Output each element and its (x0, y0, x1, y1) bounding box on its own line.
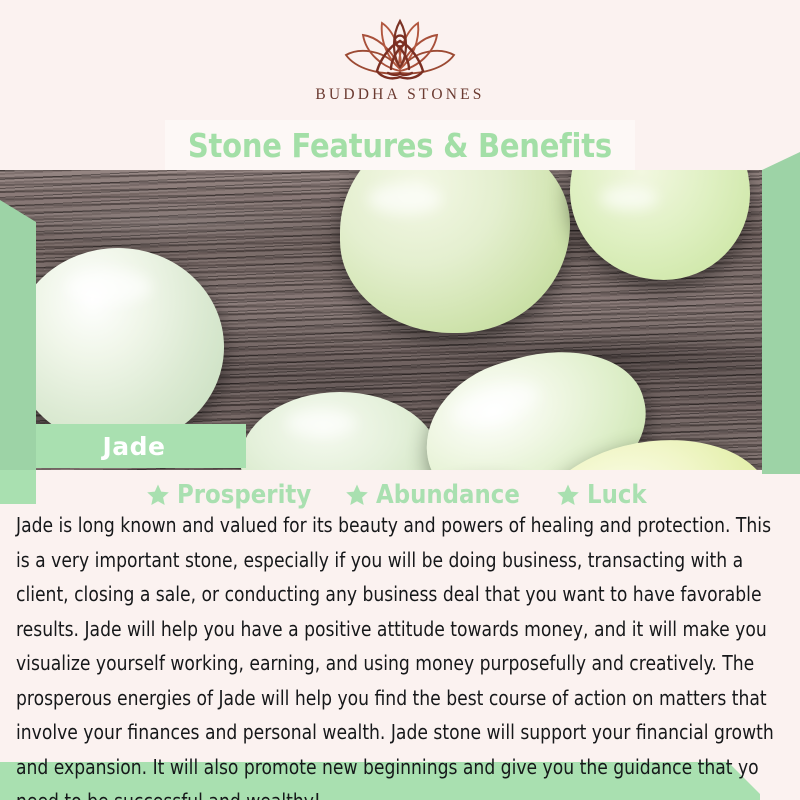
benefit-item: Abundance (345, 480, 539, 510)
frame-bar-left (0, 200, 36, 470)
stone-item (12, 248, 224, 446)
star-icon (556, 483, 580, 507)
lotus-meditation-icon (330, 17, 470, 83)
stone-name-band: Jade (22, 424, 246, 468)
benefit-item: Prosperity (146, 480, 330, 510)
brand-name: BUDDHA STONES (315, 86, 484, 104)
brand-header: BUDDHA STONES (0, 0, 800, 120)
benefit-item: Luck (556, 480, 655, 510)
star-icon (146, 483, 170, 507)
benefit-label: Luck (587, 480, 647, 510)
benefits-row: Prosperity Abundance Luck (0, 478, 800, 512)
page-title: Stone Features & Benefits (188, 126, 612, 165)
benefit-label: Prosperity (177, 480, 311, 510)
stone-description: Jade is long known and valued for its be… (16, 508, 788, 800)
title-banner: Stone Features & Benefits (165, 120, 635, 170)
star-icon (345, 483, 369, 507)
frame-bar-right (762, 152, 800, 474)
stone-info-poster: BUDDHA STONES Stone Features & Benefits (0, 0, 800, 800)
frame-bar-bottom-right-notch (760, 762, 800, 800)
benefit-label: Abundance (376, 480, 520, 510)
stone-name-label: Jade (102, 432, 165, 461)
